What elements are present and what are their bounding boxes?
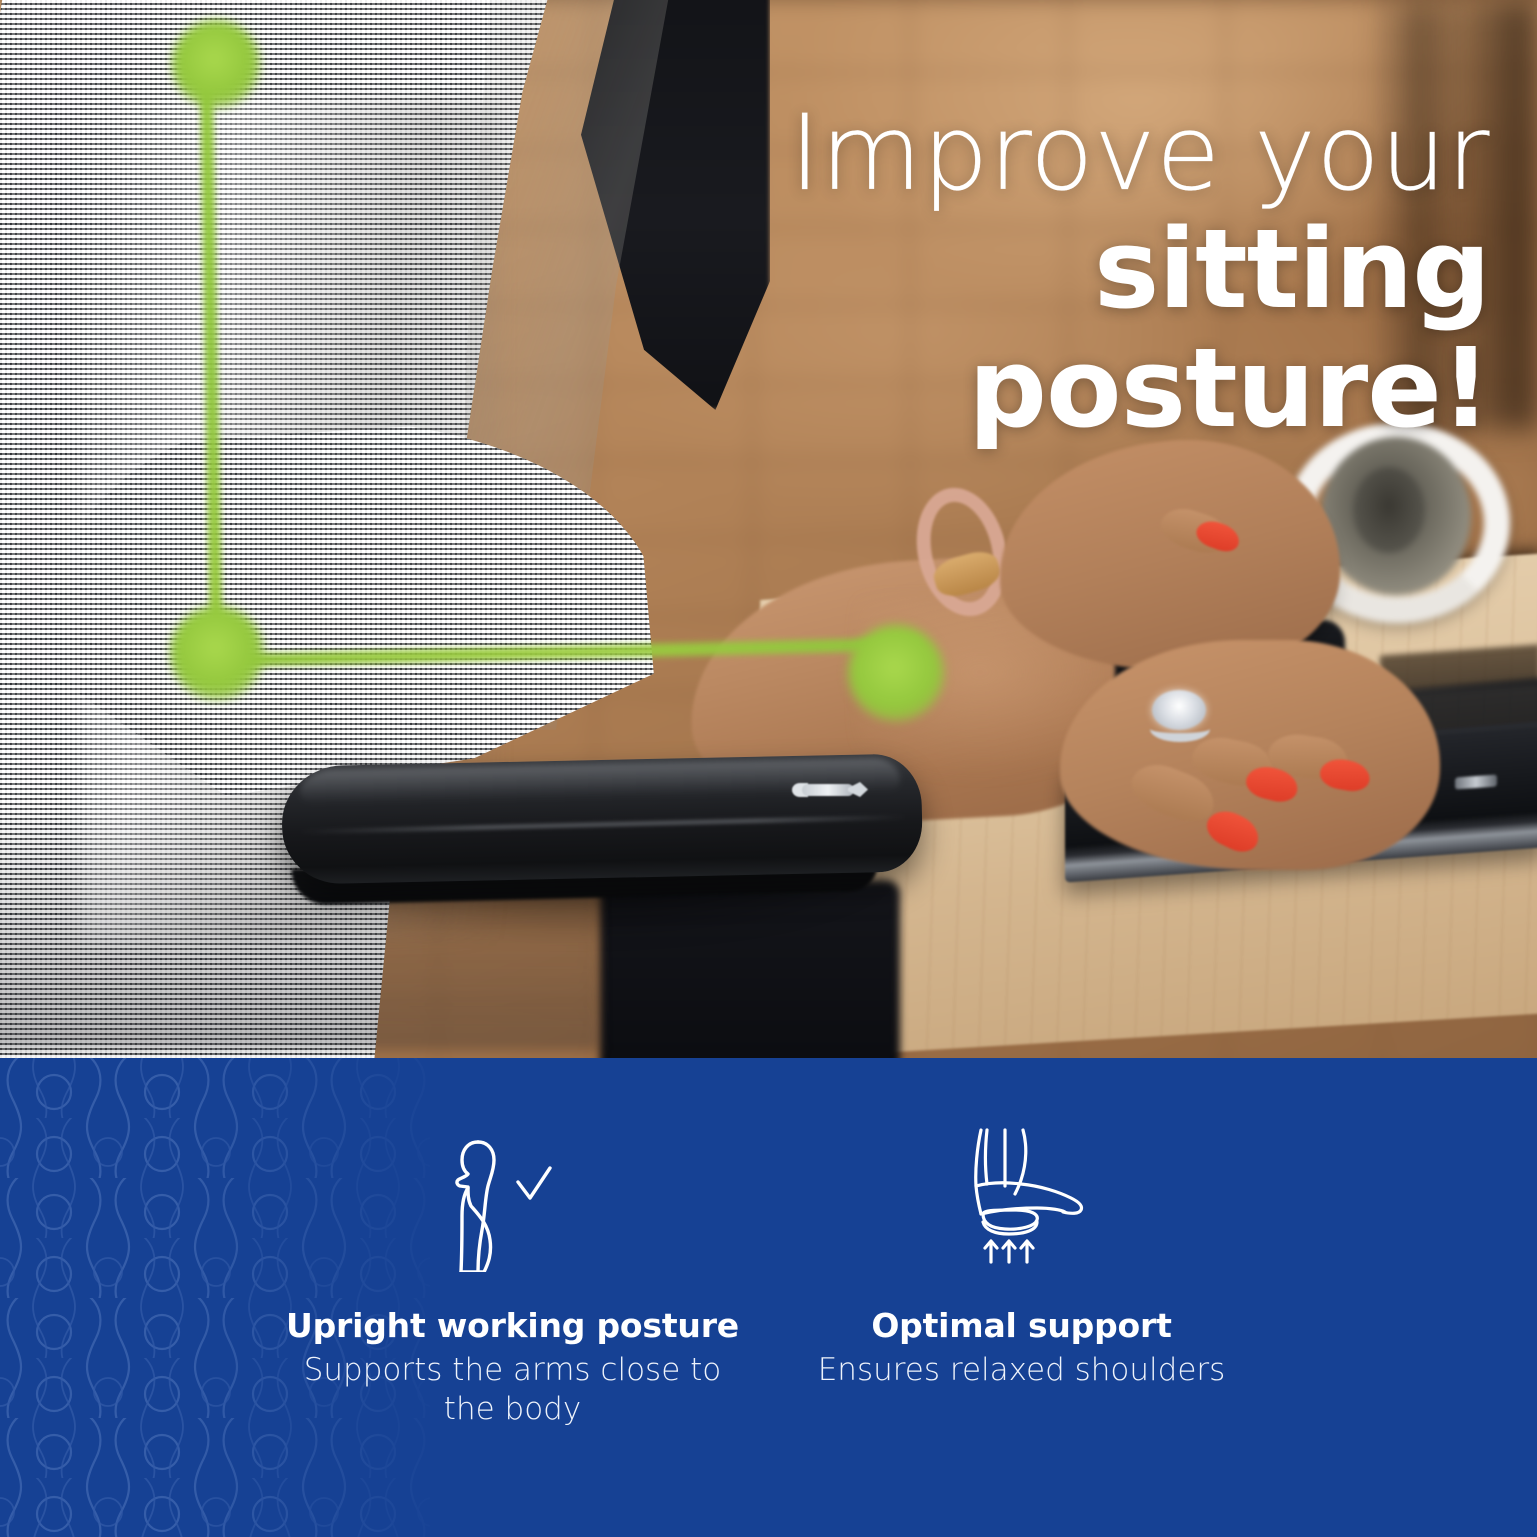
upright-posture-icon [280, 1122, 745, 1272]
armrest-brand-logo-icon [792, 778, 870, 802]
feature-title: Upright working posture [280, 1306, 745, 1345]
armrest-support-icon [789, 1122, 1254, 1272]
feature-description: Supports the arms close to the body [280, 1351, 745, 1430]
feature-optimal-support: Optimal support Ensures relaxed shoulder… [789, 1122, 1254, 1390]
wrist-joint-node [848, 625, 944, 721]
feature-upright-posture: Upright working posture Supports the arm… [280, 1122, 745, 1430]
headphones-earcup-inner [1353, 467, 1425, 553]
headline-line-1: Improve your [560, 98, 1490, 208]
hero-photo: Improve your sitting posture! [0, 0, 1537, 1058]
feature-list: Upright working posture Supports the arm… [280, 1122, 1310, 1430]
poster-root: Improve your sitting posture! [0, 0, 1537, 1537]
elbow-joint-node [170, 606, 264, 700]
headline-line-2: sitting posture! [560, 210, 1490, 448]
feature-title: Optimal support [789, 1306, 1254, 1345]
feature-description: Ensures relaxed shoulders [789, 1351, 1254, 1390]
shoulder-joint-node [172, 20, 260, 108]
ring-band [1150, 716, 1210, 742]
headline: Improve your sitting posture! [560, 98, 1490, 448]
features-panel: Upright working posture Supports the arm… [0, 1058, 1537, 1537]
